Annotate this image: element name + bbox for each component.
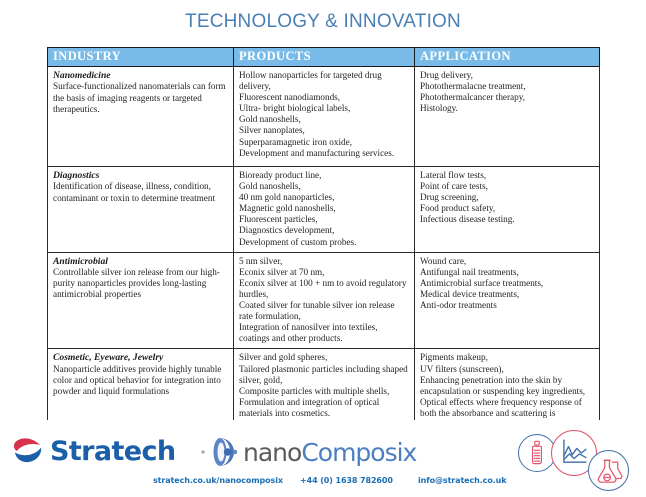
list-item: Wound care,	[420, 256, 594, 267]
stratech-logo[interactable]: Stratech	[12, 436, 176, 467]
list-item: Silver nanoplates,	[239, 125, 409, 136]
applications-list: Drug delivery, Photothermalacne treatmen…	[420, 70, 594, 114]
footer: Stratech nanoComposix stratech.co.uk/nan…	[0, 420, 646, 497]
list-item: Development of custom probes.	[239, 237, 409, 248]
wordmark-nano: nano	[243, 438, 301, 467]
list-item: Composite particles with multiple shells…	[239, 386, 409, 397]
products-list: 5 nm silver, Econix silver at 70 nm, Eco…	[239, 256, 409, 345]
table-row: Antimicrobial Controllable silver ion re…	[48, 252, 600, 349]
nanocomposix-wordmark: nanoComposix	[243, 439, 416, 466]
table-row: Nanomedicine Surface-functionalized nano…	[48, 67, 600, 167]
list-item: Coated silver for tunable silver ion rel…	[239, 300, 409, 322]
list-item: Fluorescent nanodiamonds,	[239, 92, 409, 103]
industry-description: Identification of disease, illness, cond…	[53, 181, 228, 203]
list-item: Pigments makeup,	[420, 352, 594, 363]
list-item: Enhancing penetration into the skin by e…	[420, 375, 594, 397]
list-item: Photothermalacne treatment,	[420, 81, 594, 92]
list-item: Econix silver at 70 nm,	[239, 267, 409, 278]
cell-products: Bioready product line, Gold nanoshells, …	[234, 167, 415, 253]
cell-industry: Antimicrobial Controllable silver ion re…	[48, 252, 234, 349]
technology-innovation-table: INDUSTRY PRODUCTS APPLICATION Nanomedici…	[47, 47, 600, 441]
list-item: 5 nm silver,	[239, 256, 409, 267]
list-item: Tailored plasmonic particles including s…	[239, 364, 409, 386]
list-item: Hollow nanoparticles for targeted drug d…	[239, 70, 409, 92]
industry-description: Controllable silver ion release from our…	[53, 267, 228, 300]
list-item: Ultra- bright biological labels,	[239, 103, 409, 114]
industry-description: Nanoparticle additives provide highly tu…	[53, 364, 228, 397]
applications-list: Lateral flow tests, Point of care tests,…	[420, 170, 594, 225]
industry-name: Antimicrobial	[53, 256, 228, 267]
wordmark-composix: Composix	[301, 438, 416, 467]
column-header-products: PRODUCTS	[234, 48, 415, 67]
list-item: Anti-odor treatments	[420, 300, 594, 311]
list-item: Drug delivery,	[420, 70, 594, 81]
list-item: Formulation and integration of optical m…	[239, 397, 409, 419]
list-item: Gold nanoshells,	[239, 114, 409, 125]
industry-description: Surface-functionalized nanomaterials can…	[53, 81, 228, 114]
column-header-industry: INDUSTRY	[48, 48, 234, 67]
industry-name: Cosmetic, Eyeware, Jewelry	[53, 352, 228, 363]
list-item: UV filters (sunscreen),	[420, 364, 594, 375]
cell-products: Hollow nanoparticles for targeted drug d…	[234, 67, 415, 167]
list-item: Econix silver at 100 + nm to avoid regul…	[239, 278, 409, 300]
table-header-row: INDUSTRY PRODUCTS APPLICATION	[48, 48, 600, 67]
list-item: Superparamagnetic iron oxide,	[239, 137, 409, 148]
applications-list: Pigments makeup, UV filters (sunscreen),…	[420, 352, 594, 430]
industry-name: Diagnostics	[53, 170, 228, 181]
list-item: Diagnostics development,	[239, 225, 409, 236]
cell-application: Drug delivery, Photothermalacne treatmen…	[415, 67, 600, 167]
list-item: Medical device treatments,	[420, 289, 594, 300]
list-item: Lateral flow tests,	[420, 170, 594, 181]
list-item: Point of care tests,	[420, 181, 594, 192]
stratech-mark-icon	[12, 436, 43, 467]
email-link[interactable]: info@stratech.co.uk	[418, 476, 506, 485]
cell-products: 5 nm silver, Econix silver at 70 nm, Eco…	[234, 252, 415, 349]
products-list: Bioready product line, Gold nanoshells, …	[239, 170, 409, 248]
list-item: 40 nm gold nanoparticles,	[239, 192, 409, 203]
nanocomposix-mark-icon	[200, 436, 240, 469]
cell-application: Wound care, Antifungal nail treatments, …	[415, 252, 600, 349]
list-item: Gold nanoshells,	[239, 181, 409, 192]
stratech-wordmark: Stratech	[50, 438, 176, 466]
flask-icon	[588, 450, 629, 491]
list-item: Development and manufacturing services.	[239, 148, 409, 159]
table-row: Diagnostics Identification of disease, i…	[48, 167, 600, 253]
applications-list: Wound care, Antifungal nail treatments, …	[420, 256, 594, 311]
list-item: Food product safety,	[420, 203, 594, 214]
list-item: Photothermalcancer therapy,	[420, 92, 594, 103]
cell-industry: Diagnostics Identification of disease, i…	[48, 167, 234, 253]
products-list: Silver and gold spheres, Tailored plasmo…	[239, 352, 409, 419]
list-item: Silver and gold spheres,	[239, 352, 409, 363]
website-link[interactable]: stratech.co.uk/nanocomposix	[153, 476, 283, 485]
list-item: Magnetic gold nanoshells,	[239, 203, 409, 214]
list-item: Antifungal nail treatments,	[420, 267, 594, 278]
products-list: Hollow nanoparticles for targeted drug d…	[239, 70, 409, 159]
slide-page: TECHNOLOGY & INNOVATION INDUSTRY PRODUCT…	[0, 0, 646, 497]
list-item: Infectious disease testing.	[420, 214, 594, 225]
column-header-application: APPLICATION	[415, 48, 600, 67]
phone-number[interactable]: +44 (0) 1638 782600	[300, 476, 393, 485]
list-item: Drug screening,	[420, 192, 594, 203]
nanocomposix-logo[interactable]: nanoComposix	[200, 436, 416, 469]
icon-cluster	[518, 428, 640, 494]
page-title: TECHNOLOGY & INNOVATION	[0, 11, 646, 33]
list-item: Integration of nanosilver into textiles,…	[239, 322, 409, 344]
industry-name: Nanomedicine	[53, 70, 228, 81]
cell-industry: Nanomedicine Surface-functionalized nano…	[48, 67, 234, 167]
list-item: Bioready product line,	[239, 170, 409, 181]
list-item: Fluorescent particles,	[239, 214, 409, 225]
list-item: Antimicrobial surface treatments,	[420, 278, 594, 289]
cell-application: Lateral flow tests, Point of care tests,…	[415, 167, 600, 253]
list-item: Histology.	[420, 103, 594, 114]
